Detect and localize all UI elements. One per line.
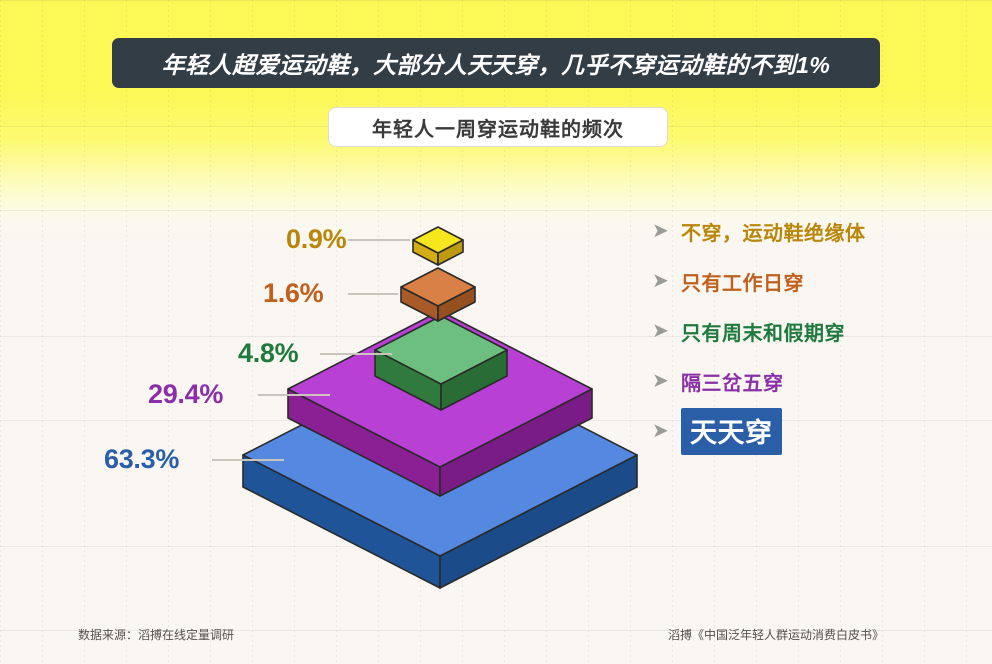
percentage-label-1: 0.9% [286, 224, 346, 255]
percentage-label-4: 29.4% [148, 379, 223, 410]
legend-item-5[interactable]: ➤天天穿 [652, 406, 952, 456]
footer-report-text: 滔搏《中国泛年轻人群运动消费白皮书》 [668, 626, 884, 643]
legend-item-label: 只有工作日穿 [681, 267, 804, 296]
subtitle-pill: 年轻人一周穿运动鞋的频次 [328, 107, 668, 147]
percentage-label-3: 4.8% [238, 338, 298, 369]
arrow-right-icon: ➤ [652, 321, 672, 341]
percentage-label-2: 1.6% [263, 278, 323, 309]
arrow-right-icon: ➤ [652, 221, 672, 241]
legend-item-2[interactable]: ➤只有工作日穿 [652, 256, 952, 306]
headline-text: 年轻人超爱运动鞋，大部分人天天穿，几乎不穿运动鞋的不到1% [162, 46, 831, 80]
footer-source-text: 数据来源：滔搏在线定量调研 [78, 626, 234, 643]
legend-item-label: 天天穿 [681, 408, 782, 455]
percentage-label-5: 63.3% [104, 444, 179, 475]
legend-item-1[interactable]: ➤不穿，运动鞋绝缘体 [652, 206, 952, 256]
subtitle-text: 年轻人一周穿运动鞋的频次 [372, 113, 624, 142]
arrow-right-icon: ➤ [652, 421, 672, 441]
legend-item-4[interactable]: ➤隔三岔五穿 [652, 356, 952, 406]
legend-item-3[interactable]: ➤只有周末和假期穿 [652, 306, 952, 356]
legend: ➤不穿，运动鞋绝缘体➤只有工作日穿➤只有周末和假期穿➤隔三岔五穿➤天天穿 [652, 206, 952, 456]
legend-item-label: 隔三岔五穿 [681, 367, 784, 396]
infographic-page: 年轻人超爱运动鞋，大部分人天天穿，几乎不穿运动鞋的不到1% 年轻人一周穿运动鞋的… [0, 0, 992, 664]
legend-item-label: 不穿，运动鞋绝缘体 [681, 217, 866, 246]
arrow-right-icon: ➤ [652, 371, 672, 391]
headline-banner: 年轻人超爱运动鞋，大部分人天天穿，几乎不穿运动鞋的不到1% [112, 38, 880, 88]
arrow-right-icon: ➤ [652, 271, 672, 291]
legend-item-label: 只有周末和假期穿 [681, 317, 845, 346]
